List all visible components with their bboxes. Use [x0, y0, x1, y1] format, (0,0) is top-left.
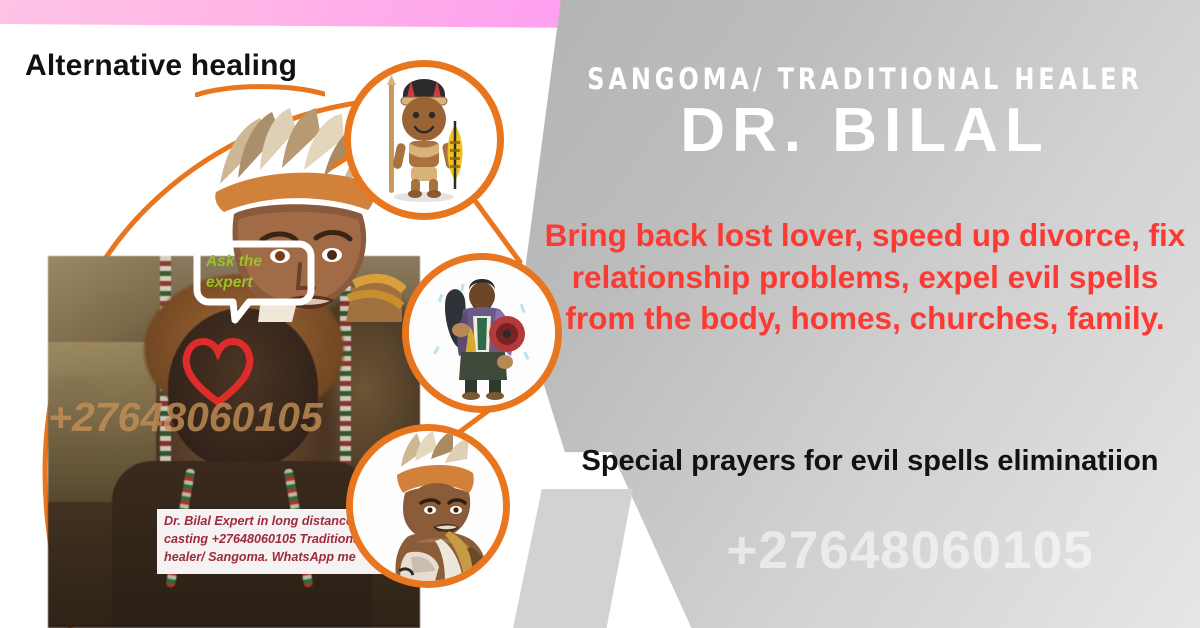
services-text: Bring back lost lover, speed up divorce,… — [535, 215, 1195, 340]
headline-doctor-name: DR. BILAL — [540, 98, 1190, 163]
grey-foot-shape — [513, 489, 633, 628]
special-prayers-text: Special prayers for evil spells eliminat… — [560, 442, 1180, 480]
circle-crouching-warrior[interactable] — [346, 424, 510, 588]
phone-watermark: +27648060105 — [620, 520, 1200, 581]
poster-canvas: Alternative healing — [0, 0, 1200, 628]
crouching-warrior-icon — [353, 431, 503, 581]
photo-phone-watermark: +27648060105 — [48, 394, 428, 441]
circle-cartoon-zulu-warrior[interactable] — [344, 60, 504, 220]
circle-robed-healer[interactable] — [402, 253, 562, 413]
speech-bubble-text: Ask the expert — [206, 252, 306, 294]
cartoon-zulu-warrior-icon — [351, 67, 497, 213]
title-underline-swoosh — [195, 84, 325, 97]
page-title: Alternative healing — [25, 49, 297, 83]
pink-top-band — [0, 0, 610, 28]
robed-healer-icon — [409, 260, 555, 406]
kicker-text: SANGOMA/ TRADITIONAL HEALER — [566, 62, 1164, 96]
